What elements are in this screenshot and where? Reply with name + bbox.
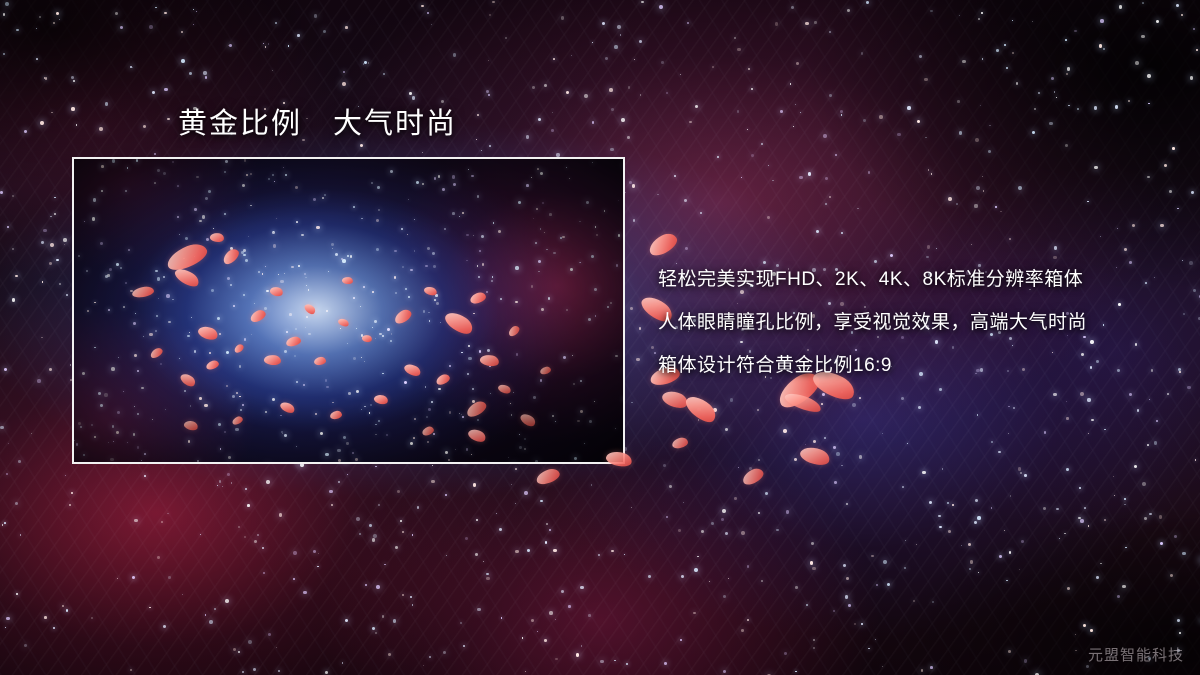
body-text-block: 轻松完美实现FHD、2K、4K、8K标准分辨率箱体 人体眼睛瞳孔比例，享受视觉效…: [658, 258, 1178, 387]
body-line-1: 轻松完美实现FHD、2K、4K、8K标准分辨率箱体: [658, 258, 1178, 301]
body-line-2: 人体眼睛瞳孔比例，享受视觉效果，高端大气时尚: [658, 301, 1178, 344]
framed-photo-vignette: [74, 159, 623, 462]
page-title: 黄金比例 大气时尚: [178, 100, 457, 142]
presentation-slide: 黄金比例 大气时尚 轻松完美实现FHD、2K、4K、8K标准分辨率箱体 人体眼睛…: [0, 0, 1200, 675]
watermark-label: 元盟智能科技: [1088, 644, 1184, 665]
body-line-3: 箱体设计符合黄金比例16:9: [658, 344, 1178, 387]
framed-product-image: [72, 157, 625, 464]
